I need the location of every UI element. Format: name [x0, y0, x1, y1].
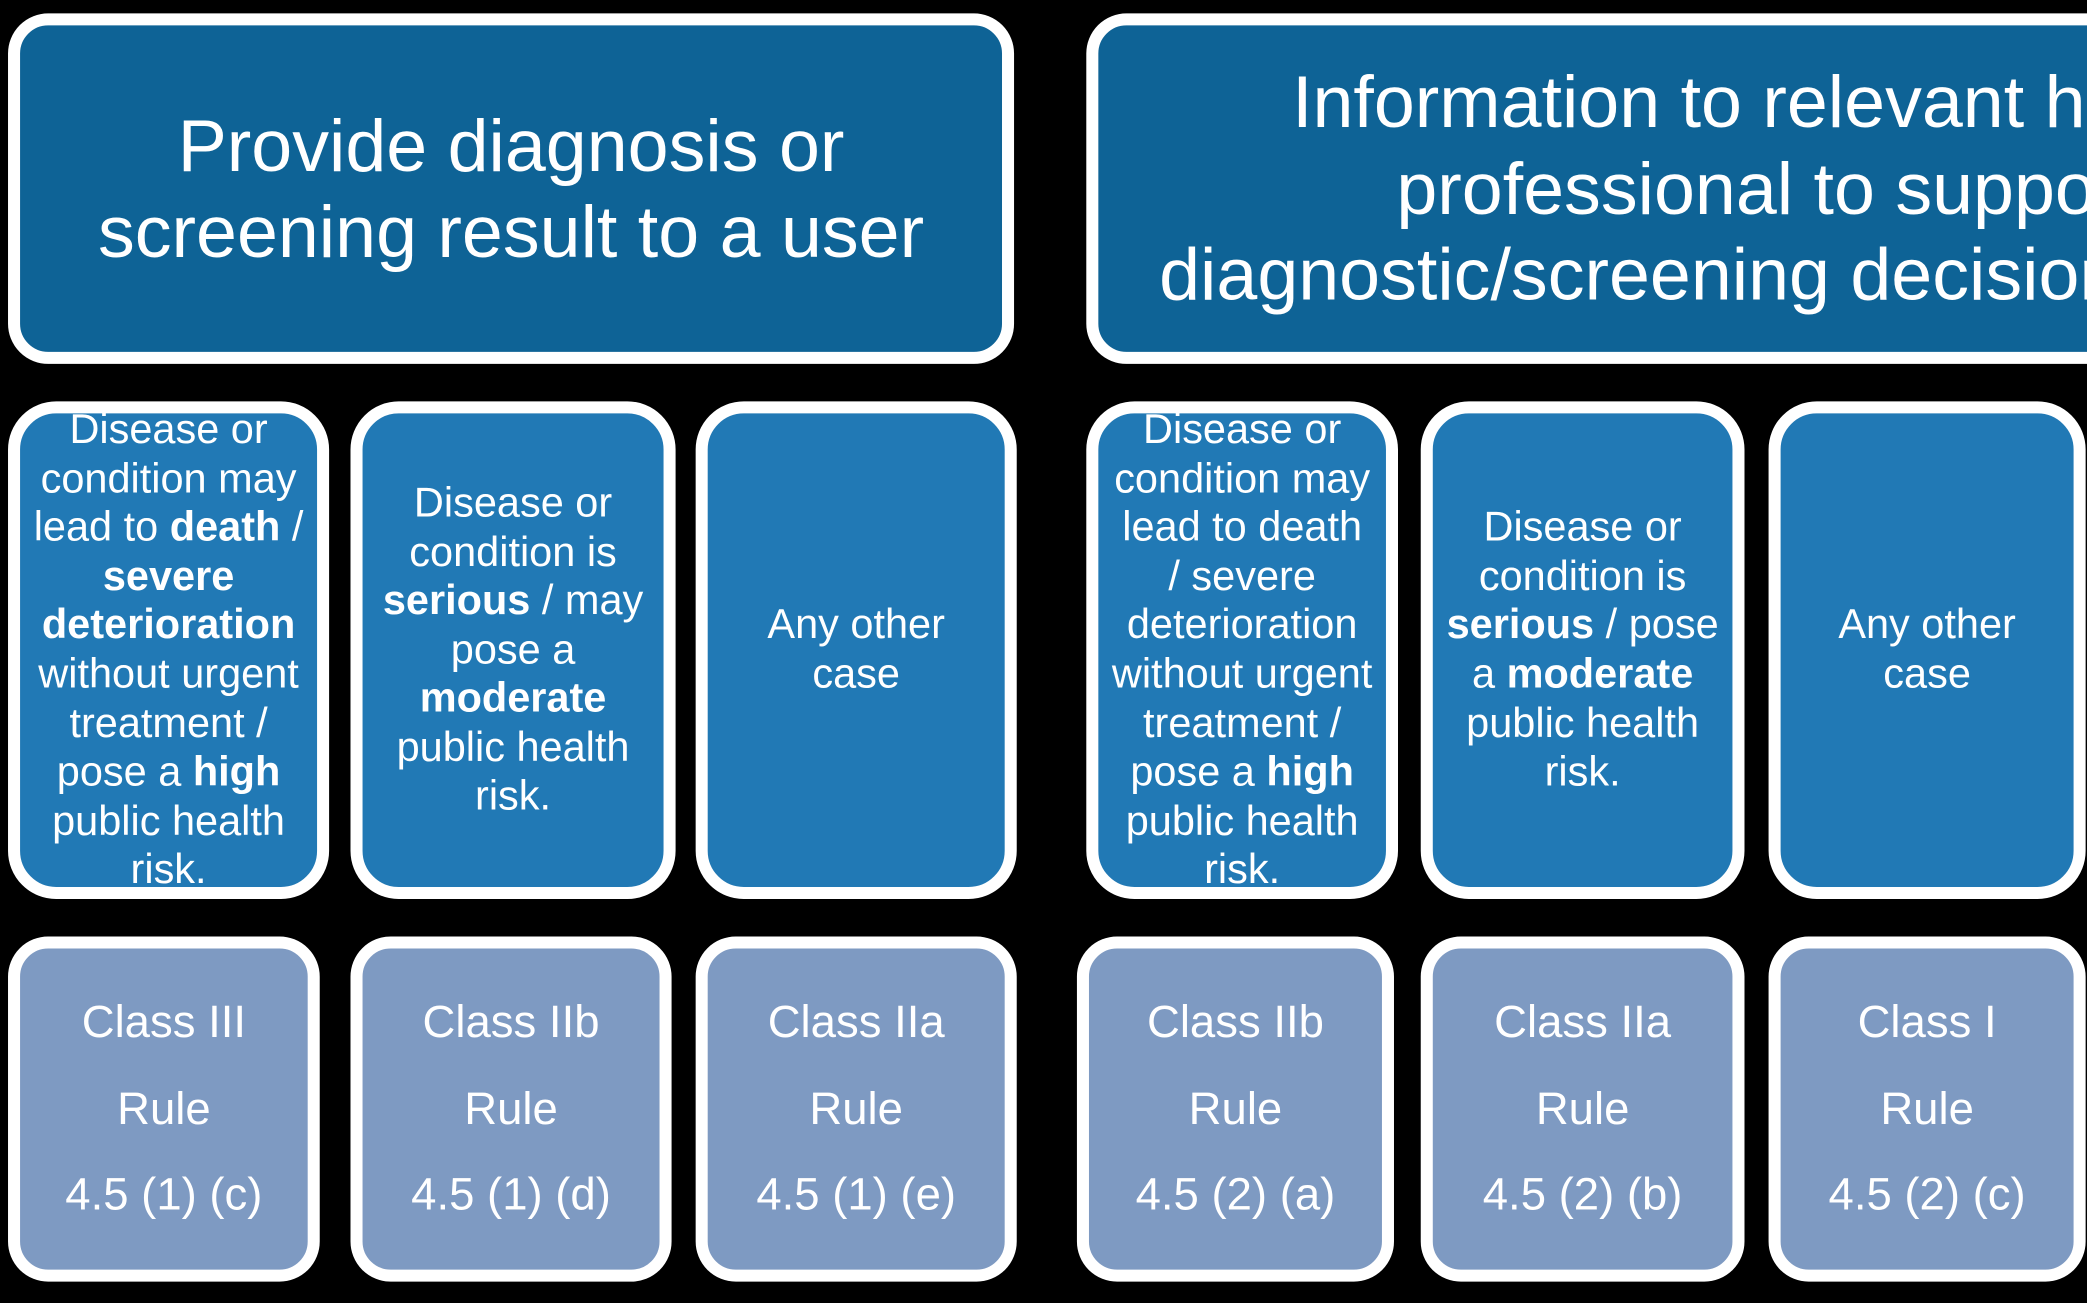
criteria-box-6: Any other case	[1769, 401, 2086, 899]
class-3-number: 4.5 (1) (e)	[721, 1152, 991, 1238]
class-2-label: Class IIb	[376, 979, 646, 1065]
class-box-1: Class III Rule 4.5 (1) (c)	[8, 936, 320, 1281]
class-3-label: Class IIa	[721, 979, 991, 1065]
class-4-label: Class IIb	[1102, 979, 1368, 1065]
class-3-rule: Rule	[721, 1066, 991, 1152]
class-box-3: Class IIa Rule 4.5 (1) (e)	[696, 936, 1017, 1281]
criteria-1-text: Disease or condition may lead to death /…	[20, 405, 317, 894]
class-2-rule: Rule	[376, 1066, 646, 1152]
class-box-5: Class IIa Rule 4.5 (2) (b)	[1421, 936, 1745, 1281]
class-box-6: Class I Rule 4.5 (2) (c)	[1769, 936, 2086, 1281]
criteria-box-4: Disease or condition may lead to death /…	[1086, 401, 1398, 899]
criteria-2-text: Disease or condition is serious / may po…	[363, 479, 664, 822]
header-box-left: Provide diagnosis or screening result to…	[8, 13, 1014, 364]
class-6-label: Class I	[1794, 979, 2060, 1065]
criteria-3-text: Any other case	[708, 601, 1005, 699]
header-left-label: Provide diagnosis or screening result to…	[20, 103, 1002, 275]
header-right-label: Information to relevant health professio…	[1098, 60, 2087, 318]
class-box-4: Class IIb Rule 4.5 (2) (a)	[1077, 936, 1394, 1281]
criteria-box-2: Disease or condition is serious / may po…	[351, 401, 676, 899]
diagram-scaler: Provide diagnosis or screening result to…	[0, 0, 2087, 1303]
criteria-5-text: Disease or condition is serious / pose a…	[1433, 503, 1733, 797]
class-4-rule: Rule	[1102, 1066, 1368, 1152]
class-6-rule: Rule	[1794, 1066, 2060, 1152]
class-4-number: 4.5 (2) (a)	[1102, 1152, 1368, 1238]
class-1-number: 4.5 (1) (c)	[33, 1152, 294, 1238]
class-1-label: Class III	[33, 979, 294, 1065]
class-5-number: 4.5 (2) (b)	[1446, 1152, 1719, 1238]
criteria-4-text: Disease or condition may lead to death /…	[1098, 405, 1386, 894]
diagram-canvas: Provide diagnosis or screening result to…	[0, 0, 2087, 1303]
class-5-rule: Rule	[1446, 1066, 1719, 1152]
criteria-box-5: Disease or condition is serious / pose a…	[1421, 401, 1745, 899]
criteria-6-text: Any other case	[1781, 601, 2074, 699]
class-5-label: Class IIa	[1446, 979, 1719, 1065]
class-box-2: Class IIb Rule 4.5 (1) (d)	[351, 936, 672, 1281]
class-1-rule: Rule	[33, 1066, 294, 1152]
criteria-box-1: Disease or condition may lead to death /…	[8, 401, 329, 899]
header-box-right: Information to relevant health professio…	[1086, 13, 2087, 364]
class-2-number: 4.5 (1) (d)	[376, 1152, 646, 1238]
criteria-box-3: Any other case	[696, 401, 1017, 899]
class-6-number: 4.5 (2) (c)	[1794, 1152, 2060, 1238]
